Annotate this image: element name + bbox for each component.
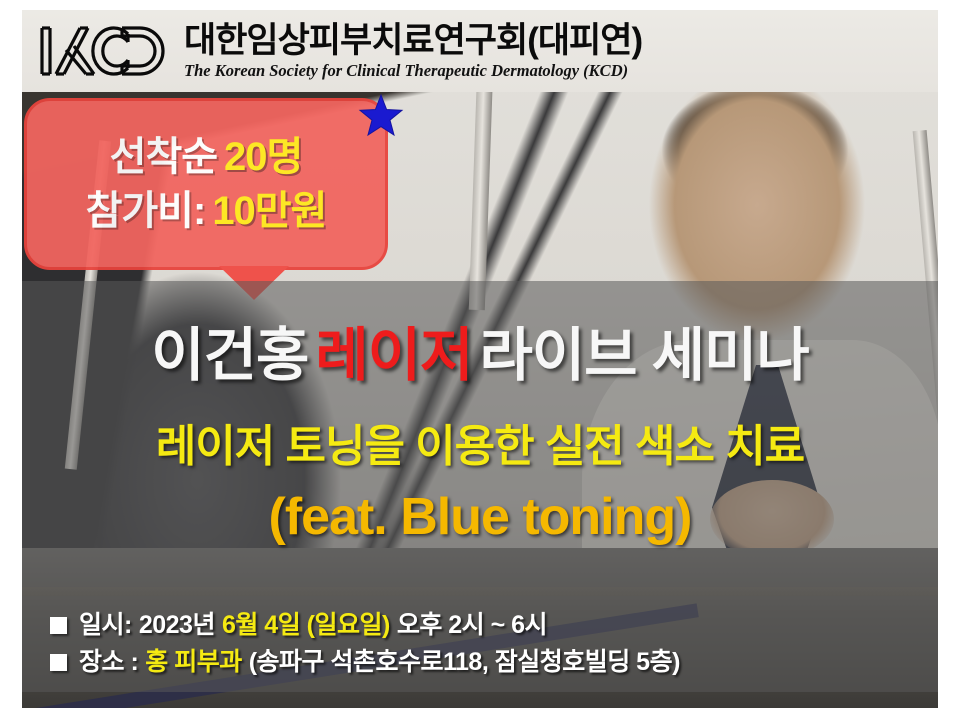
date-time: 오후 2시 ~ 6시 xyxy=(397,613,547,638)
info-band: 일시: 2023년 6월 4일 (일요일) 오후 2시 ~ 6시 장소 : 홍 … xyxy=(22,596,938,692)
venue-name: 홍 피부과 xyxy=(145,650,241,675)
badge-fee-label: 참가비: xyxy=(86,189,206,233)
badge-capacity-label: 선착순 xyxy=(110,135,217,179)
date-year: 2023년 xyxy=(139,613,215,638)
seminar-title-main: 이건홍레이저라이브 세미나 xyxy=(151,327,808,385)
header-text-block: 대한임상피부치료연구회(대피연) The Korean Society for … xyxy=(184,23,642,80)
seminar-poster: 대한임상피부치료연구회(대피연) The Korean Society for … xyxy=(0,0,960,720)
registration-badge: 선착순20명 참가비:10만원 xyxy=(24,98,388,270)
badge-capacity-value: 20명 xyxy=(224,135,302,179)
date-info-row: 일시: 2023년 6월 4일 (일요일) 오후 2시 ~ 6시 xyxy=(50,613,938,638)
title-band: 이건홍레이저라이브 세미나 레이저 토닝을 이용한 실전 색소 치료 (feat… xyxy=(22,281,938,587)
organization-name-english: The Korean Society for Clinical Therapeu… xyxy=(184,63,642,80)
seminar-subtitle: 레이저 토닝을 이용한 실전 색소 치료 xyxy=(156,425,804,469)
date-highlight: 6월 4일 (일요일) xyxy=(222,613,390,638)
title-live-seminar: 라이브 세미나 xyxy=(479,323,808,388)
blue-star-icon xyxy=(358,93,404,139)
square-bullet-icon xyxy=(50,617,67,634)
speaker-name: 이건홍 xyxy=(151,323,308,388)
square-bullet-icon xyxy=(50,654,67,671)
venue-info-row: 장소 : 홍 피부과 (송파구 석촌호수로118, 잠실청호빌딩 5층) xyxy=(50,650,938,675)
organization-name-korean: 대한임상피부치료연구회(대피연) xyxy=(184,23,642,58)
venue-address: (송파구 석촌호수로118, 잠실청호빌딩 5층) xyxy=(249,650,680,675)
kcd-logo-icon xyxy=(36,20,176,82)
poster-header: 대한임상피부치료연구회(대피연) The Korean Society for … xyxy=(22,10,938,92)
venue-label: 장소 : xyxy=(79,650,138,675)
badge-fee-row: 참가비:10만원 xyxy=(86,191,327,231)
badge-capacity-row: 선착순20명 xyxy=(110,137,303,177)
seminar-feat-line: (feat. Blue toning) xyxy=(269,491,692,543)
badge-fee-value: 10만원 xyxy=(212,189,326,233)
date-label: 일시: xyxy=(79,613,132,638)
title-highlight-laser: 레이저 xyxy=(315,323,472,388)
